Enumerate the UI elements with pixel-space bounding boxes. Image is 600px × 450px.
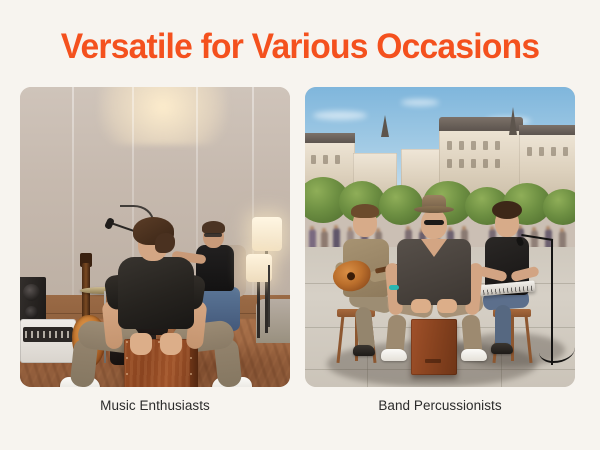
studio-scene-image [20,87,290,387]
amplifier-knobs [25,331,71,338]
stool-leg [511,315,514,361]
window [311,155,316,164]
player-right-hand [160,333,182,355]
drummer-glasses [204,233,222,237]
window [495,141,500,150]
image-gallery [20,87,580,387]
keyboardist-hair [492,201,522,219]
window [483,159,488,168]
caption-band-percussionists: Band Percussionists [305,396,575,418]
church-spire [381,115,389,137]
gallery-card-band-percussionists[interactable] [305,87,575,387]
cajon-player-left-shoe [381,349,407,361]
window [471,159,476,168]
cajon-player-right-hand [437,299,457,313]
caption-row: Music Enthusiasts Band Percussionists [20,396,580,418]
window [563,147,568,156]
guitarist-shoe [353,345,375,356]
window [471,141,476,150]
crowd-person-head [348,227,352,231]
cajon-drum [411,319,457,375]
window [483,141,488,150]
crowd-person-head [406,226,410,230]
window [495,159,500,168]
sunglasses-icon [424,220,444,225]
window [447,141,452,150]
cajon-logo [425,359,441,363]
crowd-person-head [532,227,536,231]
floor-lamp-shade [252,217,282,251]
guitarist-hair [351,204,379,218]
window [551,147,556,156]
player-hair [133,217,174,245]
crowd-person-head [310,226,314,230]
armchair [256,299,290,343]
keyboardist-shoe [491,343,513,354]
crowd-person-head [490,226,494,230]
building-roof [305,133,355,143]
crowd-person-head [376,228,380,232]
fedora-hat-brim [414,206,454,213]
player-left-hand [130,333,152,355]
window [527,147,532,156]
cloud [313,111,367,120]
cajon-player-right-shoe [461,349,487,361]
window [459,159,464,168]
amplifier-head [20,319,76,363]
studio-monitor-speaker [20,277,46,325]
crowd-person-head [462,226,466,230]
building-roof [519,125,575,135]
wall-panel-seam [72,87,74,302]
plaza-scene-image [305,87,575,387]
equipment-stand [268,265,270,327]
cloud [401,99,439,106]
crowd-person-head [546,226,550,230]
window [447,159,452,168]
caption-music-enthusiasts: Music Enthusiasts [20,396,290,418]
crowd-person-head [334,225,338,229]
tower-spire [509,107,517,135]
player-torso [118,257,194,329]
crowd-person-head [448,227,452,231]
promo-banner: Versatile for Various Occasions [0,0,600,450]
floor-lamp-pole [257,280,260,338]
gallery-card-music-enthusiasts[interactable] [20,87,290,387]
window [323,155,328,164]
window [539,147,544,156]
crowd-person-head [322,228,326,232]
window [335,155,340,164]
ceiling-light-glow [98,87,228,145]
crowd-person-head [560,228,564,232]
cajon-player-left-hand [411,299,431,313]
wristband [389,285,399,290]
page-title: Versatile for Various Occasions [12,27,588,67]
window [459,141,464,150]
